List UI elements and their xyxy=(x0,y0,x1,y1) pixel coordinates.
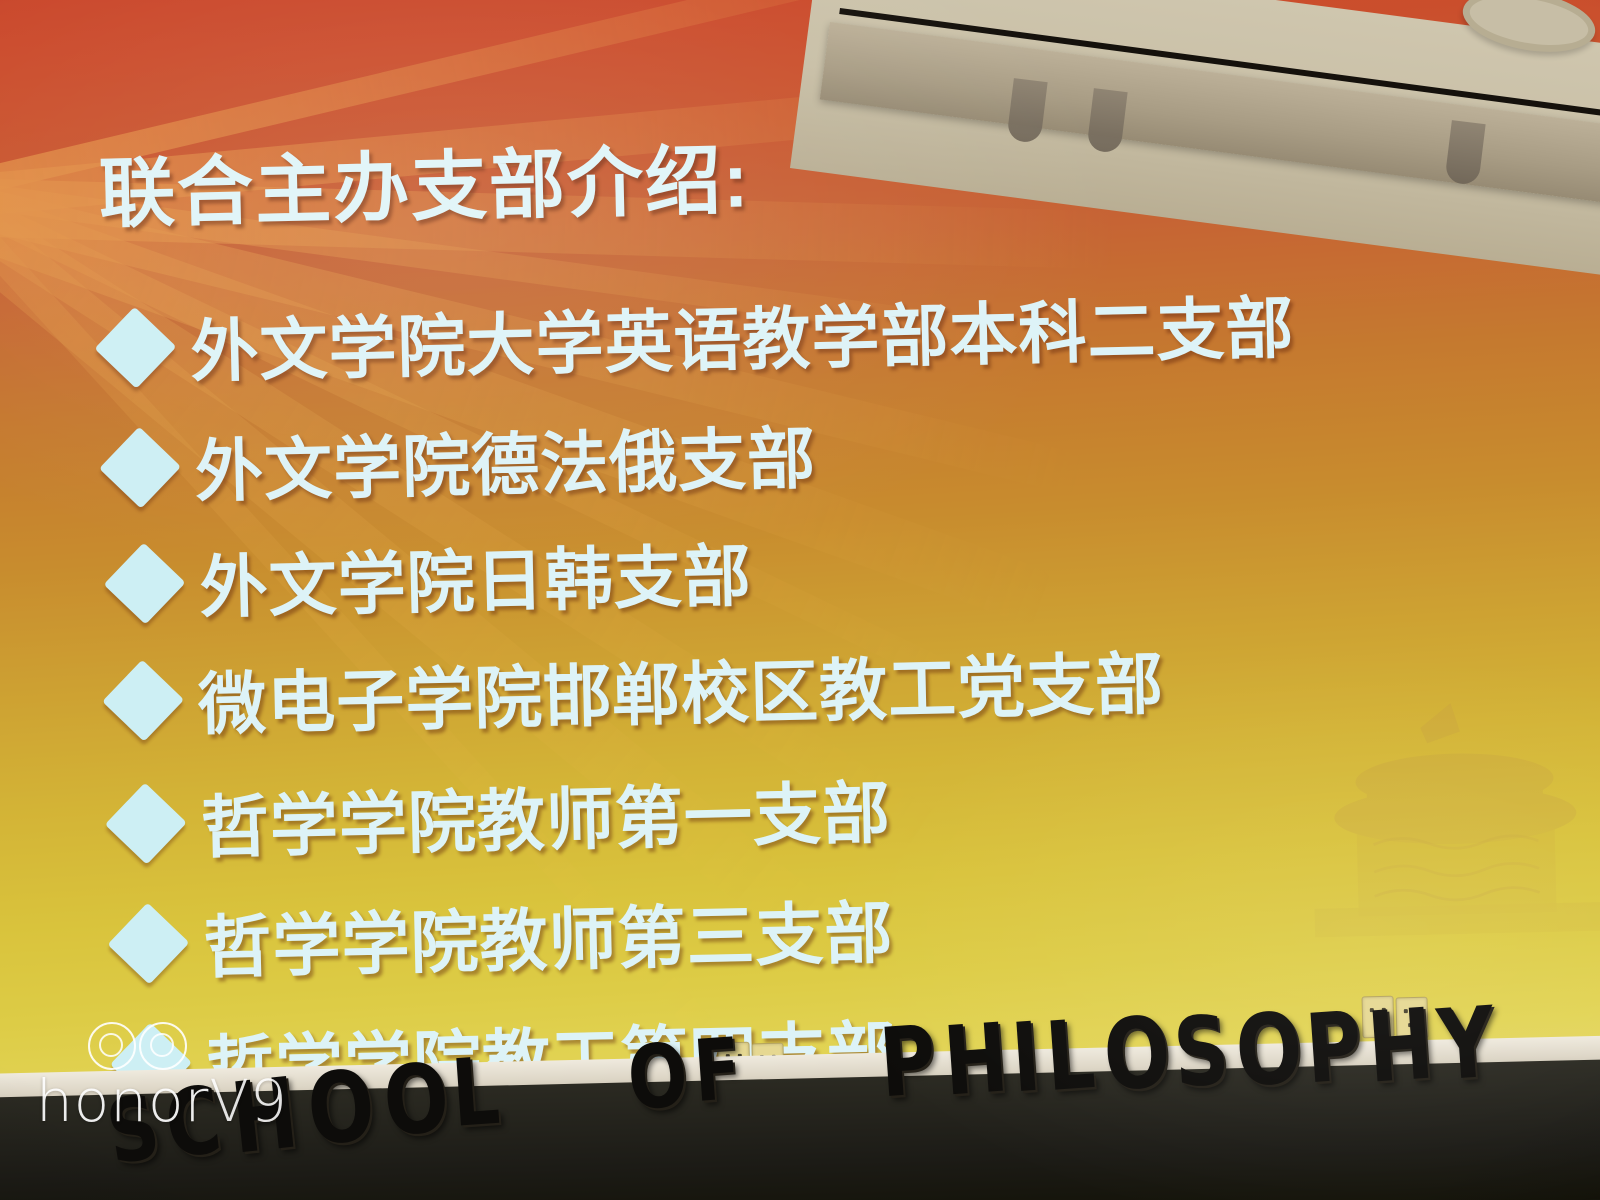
watermark-brand: honor xyxy=(36,1067,209,1135)
page-title: 联合主办支部介绍: xyxy=(98,118,752,242)
diamond-bullet-icon xyxy=(104,542,186,624)
list-item: 哲学学院教师第三支部 xyxy=(118,877,894,993)
list-item: 外文学院日韩支部 xyxy=(114,520,752,633)
signage-letter: F xyxy=(691,1028,743,1116)
diamond-bullet-icon xyxy=(107,902,189,984)
signage-letter: I xyxy=(1009,1010,1044,1107)
signage-letter: O xyxy=(380,1050,453,1150)
list-item-label: 外文学院德法俄支部 xyxy=(194,403,817,516)
signage-letter: S xyxy=(1171,1003,1232,1102)
signage-letter: H xyxy=(941,1010,1011,1109)
list-item: 微电子学院邯郸校区教工党支部 xyxy=(113,628,1165,750)
diamond-bullet-icon xyxy=(99,426,181,508)
camera-watermark: honorV9 xyxy=(36,1022,288,1130)
signage-letter: L xyxy=(1043,1007,1098,1105)
list-item: 哲学学院教师第一支部 xyxy=(116,757,892,873)
list-item-label: 哲学学院教师第三支部 xyxy=(202,877,894,991)
list-item: 外文学院德法俄支部 xyxy=(110,403,817,517)
signage-letter: H xyxy=(1365,996,1437,1098)
signage-letter: Y xyxy=(1435,994,1498,1095)
signage-letter: P xyxy=(877,1013,939,1112)
dual-camera-icon xyxy=(88,1022,288,1070)
watermark-model: V9 xyxy=(209,1067,288,1135)
list-item: 外文学院大学英语教学部本科二支部 xyxy=(105,272,1295,397)
signage-letter: O xyxy=(1233,1000,1306,1102)
signage-letter: O xyxy=(1101,1004,1174,1106)
signage-letter: L xyxy=(449,1045,502,1141)
signage-letter: P xyxy=(1303,999,1365,1098)
signage-letter: O xyxy=(304,1058,379,1161)
photo-canvas: 联合主办支部介绍: 外文学院大学英语教学部本科二支部 外文学院德法俄支部 外文学… xyxy=(0,0,1600,1200)
list-item-label: 外文学院大学英语教学部本科二支部 xyxy=(189,272,1295,395)
diamond-bullet-icon xyxy=(102,659,184,741)
list-item-label: 外文学院日韩支部 xyxy=(198,520,752,631)
diamond-bullet-icon xyxy=(105,782,187,864)
list-item-label: 哲学学院教师第一支部 xyxy=(200,757,892,871)
watermark-text: honorV9 xyxy=(36,1072,288,1130)
list-item-label: 微电子学院邯郸校区教工党支部 xyxy=(197,628,1165,748)
signage-letter: O xyxy=(625,1031,690,1122)
diamond-bullet-icon xyxy=(94,306,176,388)
